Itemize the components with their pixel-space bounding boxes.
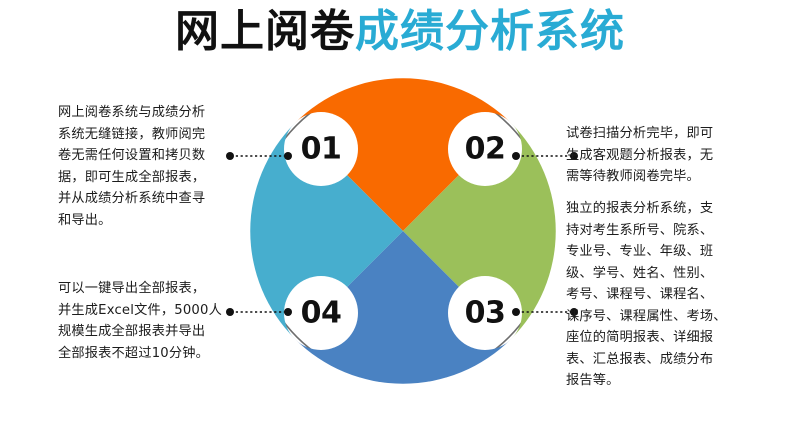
callout-text-02: 试卷扫描分析完毕，即可 生成客观题分析报表，无 需等待教师阅卷完毕。 bbox=[566, 123, 752, 188]
segment-label-01: 01 bbox=[301, 132, 342, 167]
page-title-accent-part: 成绩分析系统 bbox=[355, 6, 625, 57]
page-title: 网上阅卷成绩分析系统 bbox=[0, 2, 800, 62]
circular-diagram: 01 02 03 04 bbox=[250, 78, 556, 384]
callout-text-04: 可以一键导出全部报表， 并生成Excel文件，5000人 规模生成全部报表并导出… bbox=[58, 278, 240, 364]
segment-label-03: 03 bbox=[465, 296, 506, 331]
callout-text-01: 网上阅卷系统与成绩分析 系统无缝链接，教师阅完 卷无需任何设置和拷贝数 据，即可… bbox=[58, 102, 238, 231]
segment-label-02: 02 bbox=[465, 132, 506, 167]
segment-label-04: 04 bbox=[301, 296, 342, 331]
callout-text-03: 独立的报表分析系统，支 持对考生系所号、院系、 专业号、专业、年级、班 级、学号… bbox=[566, 198, 756, 392]
page-title-dark-part: 网上阅卷 bbox=[175, 6, 355, 57]
